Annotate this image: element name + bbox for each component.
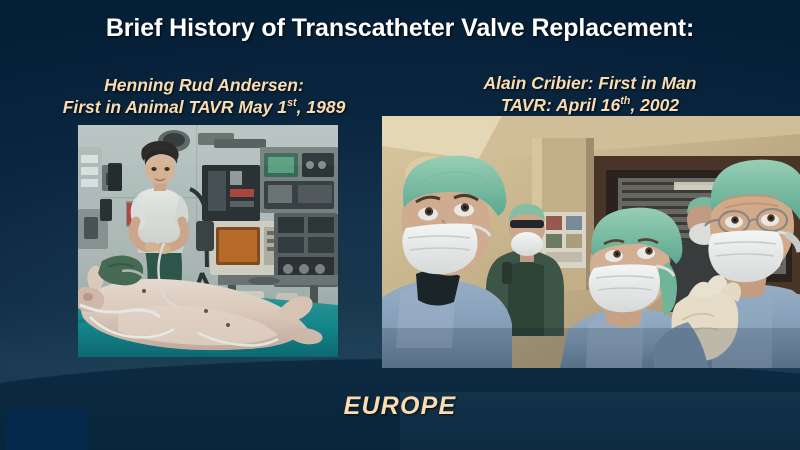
first-in-man-photo	[382, 116, 800, 368]
first-in-animal-photo-illustration	[78, 125, 338, 357]
left-caption-line1: Henning Rud Andersen:	[104, 75, 304, 95]
first-in-animal-photo	[78, 125, 338, 357]
left-caption-line2-before: First in Animal TAVR May 1	[63, 97, 287, 117]
right-caption-ordinal-suffix: th	[620, 95, 630, 107]
footer-region-label: EUROPE	[0, 392, 800, 421]
right-caption-line2-before: TAVR: April 16	[501, 95, 620, 115]
first-in-man-photo-illustration	[382, 116, 800, 368]
right-caption-line2-after: , 2002	[630, 95, 679, 115]
presentation-slide: Brief History of Transcatheter Valve Rep…	[0, 0, 800, 450]
slide-title: Brief History of Transcatheter Valve Rep…	[0, 14, 800, 43]
right-panel-caption: Alain Cribier: First in Man TAVR: April …	[420, 72, 760, 116]
left-panel-caption: Henning Rud Andersen: First in Animal TA…	[34, 74, 374, 118]
left-caption-ordinal-suffix: st	[287, 97, 297, 109]
left-caption-line2-after: , 1989	[297, 97, 346, 117]
right-caption-line1: Alain Cribier: First in Man	[484, 73, 697, 93]
